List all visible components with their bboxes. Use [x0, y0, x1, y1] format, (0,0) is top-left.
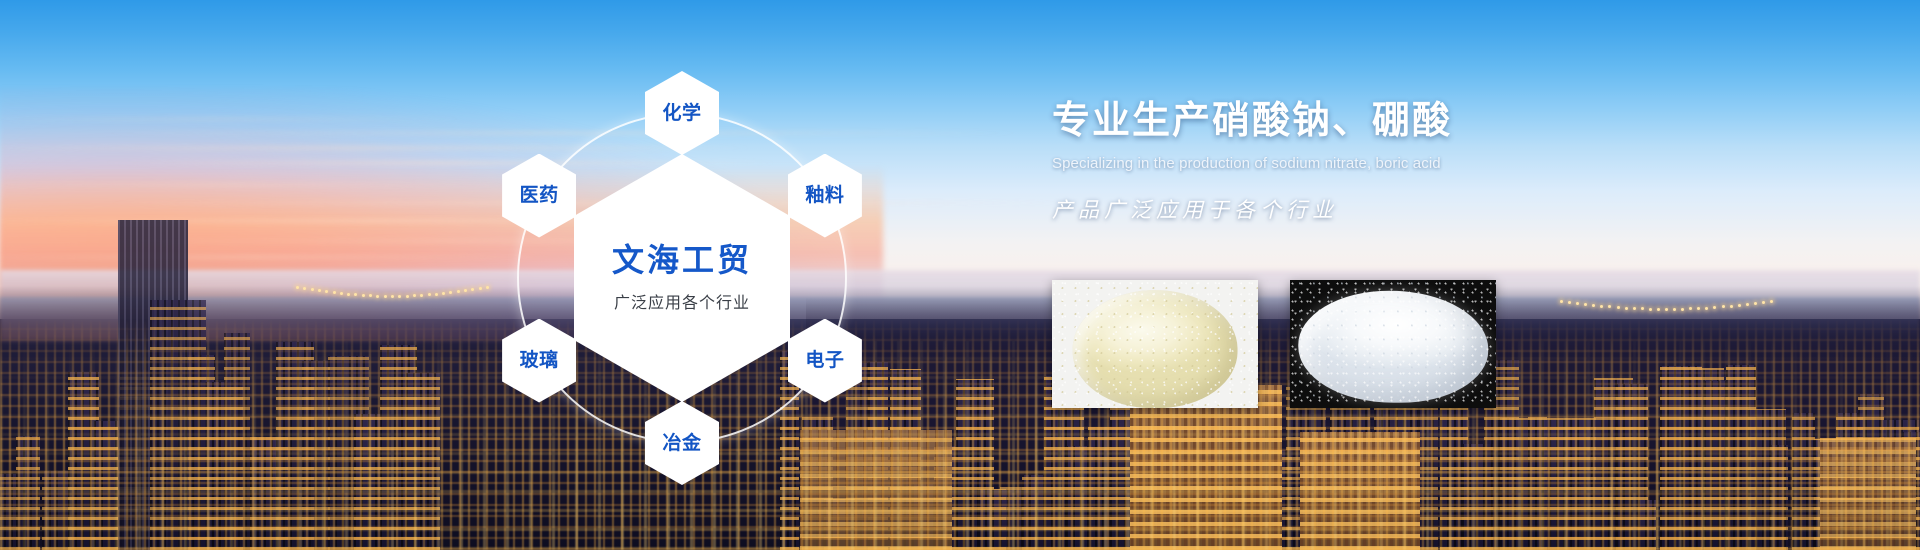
bridge-light [1762, 301, 1765, 304]
bridge-light [1738, 304, 1741, 307]
bridge-light [1560, 300, 1563, 303]
bridge-light [1625, 307, 1628, 310]
bridge-light [296, 286, 299, 289]
bridge-light [1722, 305, 1725, 308]
hex-label: 医药 [520, 186, 559, 205]
bridge-light-string [1560, 300, 1770, 302]
background-scene [0, 0, 1920, 550]
bridge-light [1657, 308, 1660, 311]
product-photo-sodium-nitrate [1052, 280, 1258, 408]
window-lights-far [0, 341, 1920, 550]
copy-block: 专业生产硝酸钠、硼酸 Specializing in the productio… [1052, 100, 1812, 224]
bridge-light [1649, 308, 1652, 311]
bridge-light [362, 294, 365, 297]
product-photo-boric-acid [1290, 280, 1496, 408]
bridge-light [1673, 308, 1676, 311]
product-photo-group [1052, 280, 1496, 408]
brand-tagline: 广泛应用各个行业 [614, 289, 750, 313]
hex-label: 冶金 [662, 434, 701, 453]
bridge-light [1681, 308, 1684, 311]
cloud-streak [0, 117, 468, 121]
bridge-light [333, 291, 336, 294]
bridge-light [1730, 305, 1733, 308]
bridge-light [311, 288, 314, 291]
bridge-light [1770, 300, 1773, 303]
hex-label: 化学 [662, 104, 701, 123]
subheadline: Specializing in the production of sodium… [1052, 155, 1812, 172]
hex-label: 电子 [805, 351, 844, 370]
tagline: 产品广泛应用于各个行业 [1052, 194, 1812, 224]
bridge-light [1746, 303, 1749, 306]
bridge-light [1754, 302, 1757, 305]
bridge-light [391, 295, 394, 298]
bridge-light [1568, 301, 1571, 304]
bridge-light [384, 295, 387, 298]
powder-texture [1290, 280, 1496, 408]
hex-label: 釉料 [805, 186, 844, 205]
bridge-light [347, 293, 350, 296]
hex-label: 玻璃 [520, 351, 559, 370]
bridge-light [1617, 306, 1620, 309]
powder-texture [1052, 280, 1258, 408]
bridge-light [340, 292, 343, 295]
industry-hex-diagram: 化学釉料电子冶金玻璃医药 文海工贸 广泛应用各个行业 [432, 28, 932, 528]
bridge-light [1633, 307, 1636, 310]
bridge-light [1665, 308, 1668, 311]
headline: 专业生产硝酸钠、硼酸 [1052, 100, 1812, 143]
brand-name: 文海工贸 [612, 244, 752, 276]
bridge-light [406, 295, 409, 298]
hero-banner: 化学釉料电子冶金玻璃医药 文海工贸 广泛应用各个行业 专业生产硝酸钠、硼酸 Sp… [0, 0, 1920, 550]
